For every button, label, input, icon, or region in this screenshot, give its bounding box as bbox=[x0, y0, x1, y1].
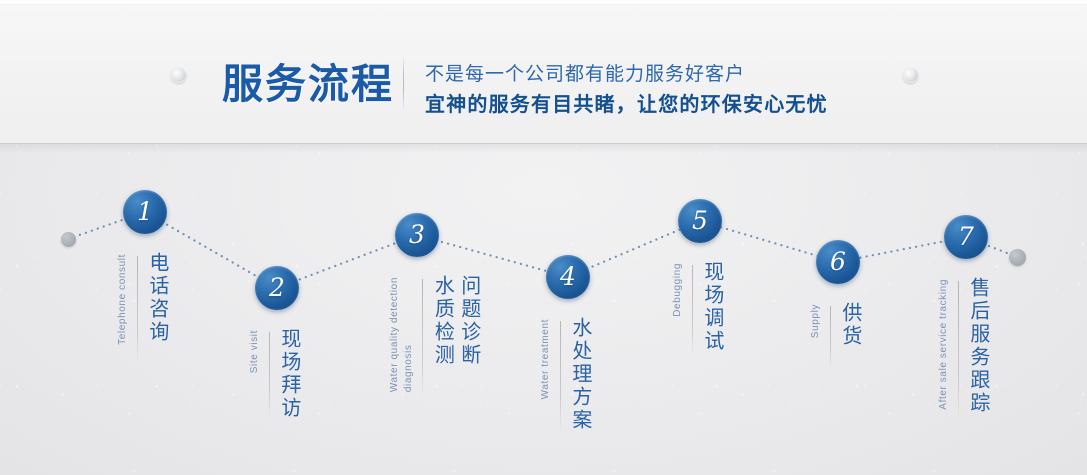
step-label-en-group: Telephone consult bbox=[116, 252, 130, 345]
step-node-3[interactable]: 3 bbox=[395, 213, 439, 257]
step-label-5: Debugging现场调试 bbox=[671, 261, 726, 357]
label-divider bbox=[692, 265, 693, 357]
label-divider bbox=[137, 256, 138, 364]
step-label-en: Water treatment bbox=[539, 319, 553, 399]
step-number: 7 bbox=[958, 224, 974, 249]
step-label-6: Supply供货 bbox=[809, 302, 864, 368]
step-number: 3 bbox=[409, 222, 425, 247]
step-label-cn: 现场拜访 bbox=[277, 328, 303, 420]
service-process-graphic: 服务流程 不是每一个公司都有能力服务好客户 宜神的服务有目共睹，让您的环保安心无… bbox=[0, 0, 1087, 475]
step-label-cn-group: 供货 bbox=[838, 302, 864, 348]
step-label-cn: 电话咨询 bbox=[145, 252, 171, 344]
title-divider bbox=[403, 55, 404, 111]
label-divider bbox=[422, 279, 423, 399]
step-number: 2 bbox=[269, 275, 285, 300]
start-dot bbox=[61, 232, 76, 247]
banner-subtitle-line2: 宜神的服务有目共睹，让您的环保安心无忧 bbox=[425, 88, 828, 117]
step-label-en: Water quality detection bbox=[388, 277, 402, 392]
step-label-2: Site visit现场拜访 bbox=[248, 328, 303, 420]
step-label-3: Water quality detectiondiagnosis问题诊断水质检测 bbox=[388, 275, 483, 399]
step-node-6[interactable]: 6 bbox=[816, 240, 860, 284]
step-label-4: Water treatment水处理方案 bbox=[539, 317, 594, 433]
step-label-en: diagnosis bbox=[402, 277, 416, 392]
step-label-cn-group: 售后服务跟踪 bbox=[966, 277, 992, 415]
step-label-cn-group: 现场拜访 bbox=[277, 328, 303, 420]
step-node-4[interactable]: 4 bbox=[546, 255, 590, 299]
step-label-en-group: Debugging bbox=[671, 261, 685, 317]
step-label-cn: 水处理方案 bbox=[568, 317, 594, 432]
step-label-en: Debugging bbox=[671, 263, 685, 317]
step-node-1[interactable]: 1 bbox=[123, 190, 167, 234]
step-node-7[interactable]: 7 bbox=[944, 215, 988, 259]
page-title: 服务流程 bbox=[222, 50, 394, 110]
step-label-cn-group: 现场调试 bbox=[700, 261, 726, 353]
step-label-cn: 供货 bbox=[838, 302, 864, 348]
step-label-en: Site visit bbox=[248, 330, 262, 373]
step-number: 1 bbox=[137, 199, 153, 224]
screw-icon bbox=[171, 68, 186, 83]
label-divider bbox=[958, 281, 959, 421]
step-label-cn-group: 电话咨询 bbox=[145, 252, 171, 344]
label-divider bbox=[560, 321, 561, 433]
step-label-cn-group: 问题诊断水质检测 bbox=[430, 275, 483, 367]
step-label-en: Supply bbox=[809, 304, 823, 338]
step-label-cn: 现场调试 bbox=[700, 261, 726, 353]
step-label-en-group: Supply bbox=[809, 302, 823, 338]
step-number: 6 bbox=[830, 249, 846, 274]
screw-icon bbox=[903, 68, 918, 83]
label-divider bbox=[830, 306, 831, 368]
step-label-cn-group: 水处理方案 bbox=[568, 317, 594, 432]
step-label-1: Telephone consult电话咨询 bbox=[116, 252, 171, 364]
step-node-5[interactable]: 5 bbox=[678, 199, 722, 243]
step-label-en: After sale service tracking bbox=[937, 279, 951, 410]
step-label-en: Telephone consult bbox=[116, 254, 130, 345]
label-divider bbox=[269, 332, 270, 418]
step-number: 4 bbox=[560, 264, 576, 289]
step-label-cn: 售后服务跟踪 bbox=[966, 277, 992, 415]
step-label-cn: 水质检测 bbox=[430, 275, 456, 367]
step-label-cn: 问题诊断 bbox=[456, 275, 482, 367]
banner-subtitle-line1: 不是每一个公司都有能力服务好客户 bbox=[425, 59, 745, 86]
step-label-en-group: Site visit bbox=[248, 328, 262, 373]
step-label-7: After sale service tracking售后服务跟踪 bbox=[937, 277, 992, 421]
end-dot bbox=[1009, 249, 1026, 266]
step-node-2[interactable]: 2 bbox=[255, 266, 299, 310]
step-label-en-group: Water treatment bbox=[539, 317, 553, 399]
step-number: 5 bbox=[692, 208, 708, 233]
step-label-en-group: After sale service tracking bbox=[937, 277, 951, 410]
step-label-en-group: Water quality detectiondiagnosis bbox=[388, 275, 415, 392]
